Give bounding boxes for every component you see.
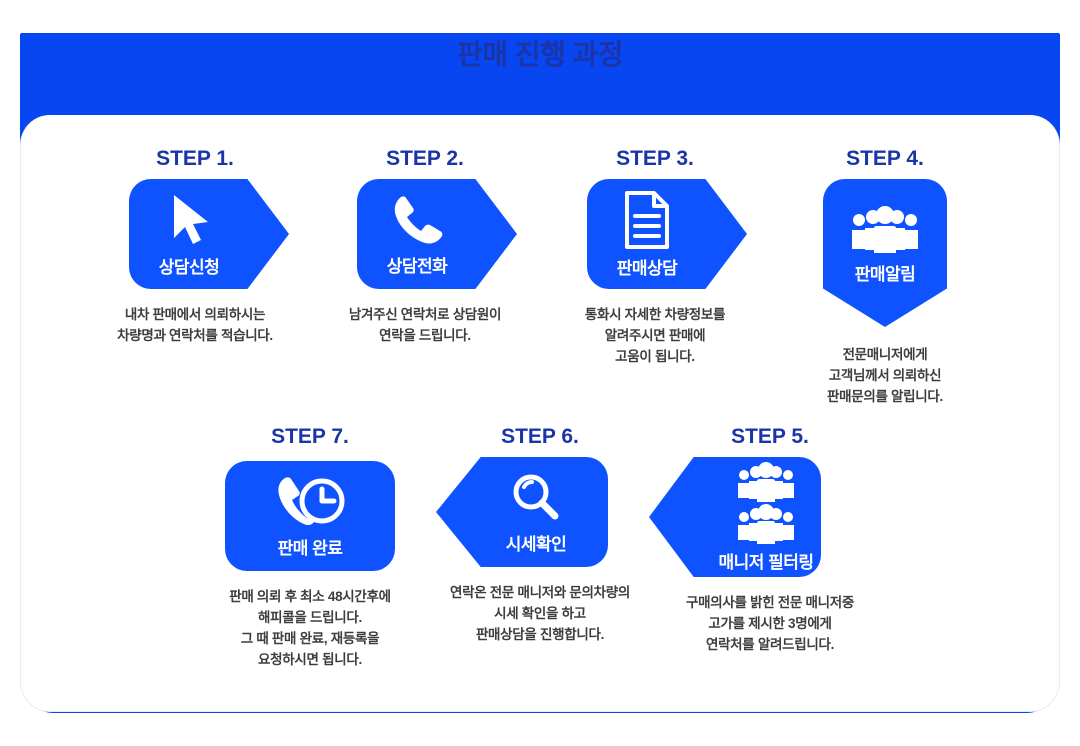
step-label: STEP 2.	[386, 147, 464, 171]
content-card: STEP 1. 상담신청 내차 판매에서 의뢰하시는 차량명과 연락처를 적습니…	[20, 115, 1060, 712]
step-card-3[interactable]: STEP 3. 판매상담	[540, 147, 770, 368]
step-badge[interactable]: 판매상담	[587, 179, 723, 289]
step-badge[interactable]: 시세확인	[472, 457, 608, 567]
step-label: STEP 5.	[731, 425, 809, 449]
step-description: 구매의사를 밝힌 전문 매니저중 고가를 제시한 3명에게 연락처를 알려드립니…	[686, 593, 854, 656]
step-card-4[interactable]: STEP 4.	[770, 147, 1000, 408]
step-label: STEP 1.	[156, 147, 234, 171]
steps-row-bottom: STEP 7. 판매 완료	[21, 425, 1059, 705]
step-description: 남겨주신 연락처로 상담원이 연락을 드립니다.	[349, 305, 501, 347]
magnifier-icon	[508, 470, 564, 526]
step-card-6[interactable]: STEP 6. 시세확인 연락온 전문 매니	[425, 425, 655, 646]
step-description: 통화시 자세한 차량정보를 알려주시면 판매에 고움이 됩니다.	[585, 305, 725, 368]
document-icon	[621, 190, 673, 250]
badge-label: 판매상담	[617, 254, 678, 279]
step-description: 연락온 전문 매니저와 문의차량의 시세 확인을 하고 판매상담을 진행합니다.	[450, 583, 630, 646]
badge-label: 판매알림	[855, 260, 916, 285]
step-badge[interactable]: 매니저 필터링	[685, 457, 855, 577]
step-description: 판매 의뢰 후 최소 48시간후에 해피콜을 드립니다. 그 때 판매 완료, …	[229, 587, 391, 671]
step-label: STEP 7.	[271, 425, 349, 449]
step-badge[interactable]: 판매 완료	[242, 461, 378, 571]
group-people-double-icon	[736, 462, 796, 544]
step-card-5[interactable]: STEP 5.	[655, 425, 885, 656]
step-description: 내차 판매에서 의뢰하시는 차량명과 연락처를 적습니다.	[117, 305, 273, 347]
step-card-2[interactable]: STEP 2. 상담전화 남겨주신 연락처로 상담원이 연락을 드립니다.	[310, 147, 540, 347]
step-card-1[interactable]: STEP 1. 상담신청 내차 판매에서 의뢰하시는 차량명과 연락처를 적습니…	[80, 147, 310, 347]
badge-label: 매니저 필터링	[718, 548, 813, 573]
page-title: 판매 진행 과정	[20, 38, 1060, 72]
badge-label: 판매 완료	[278, 534, 343, 559]
step-label: STEP 6.	[501, 425, 579, 449]
cursor-arrow-icon	[162, 191, 216, 249]
step-badge[interactable]: 상담전화	[357, 179, 493, 289]
step-card-7[interactable]: STEP 7. 판매 완료	[195, 425, 425, 671]
steps-row-top: STEP 1. 상담신청 내차 판매에서 의뢰하시는 차량명과 연락처를 적습니…	[21, 147, 1059, 437]
badge-label: 상담신청	[159, 253, 220, 278]
phone-clock-icon	[271, 474, 349, 530]
badge-label: 시세확인	[506, 530, 567, 555]
phone-handset-icon	[388, 192, 446, 248]
step-description: 전문매니저에게 고객님께서 의뢰하신 판매문의를 알립니다.	[827, 345, 943, 408]
sales-process-infographic: 판매 진행 과정 STEP 1. 상담신청	[0, 0, 1080, 746]
step-label: STEP 3.	[616, 147, 694, 171]
step-label: STEP 4.	[846, 147, 924, 171]
group-people-icon	[849, 206, 921, 256]
step-badge[interactable]: 판매알림	[823, 179, 947, 327]
badge-label: 상담전화	[387, 252, 448, 277]
step-badge[interactable]: 상담신청	[129, 179, 265, 289]
